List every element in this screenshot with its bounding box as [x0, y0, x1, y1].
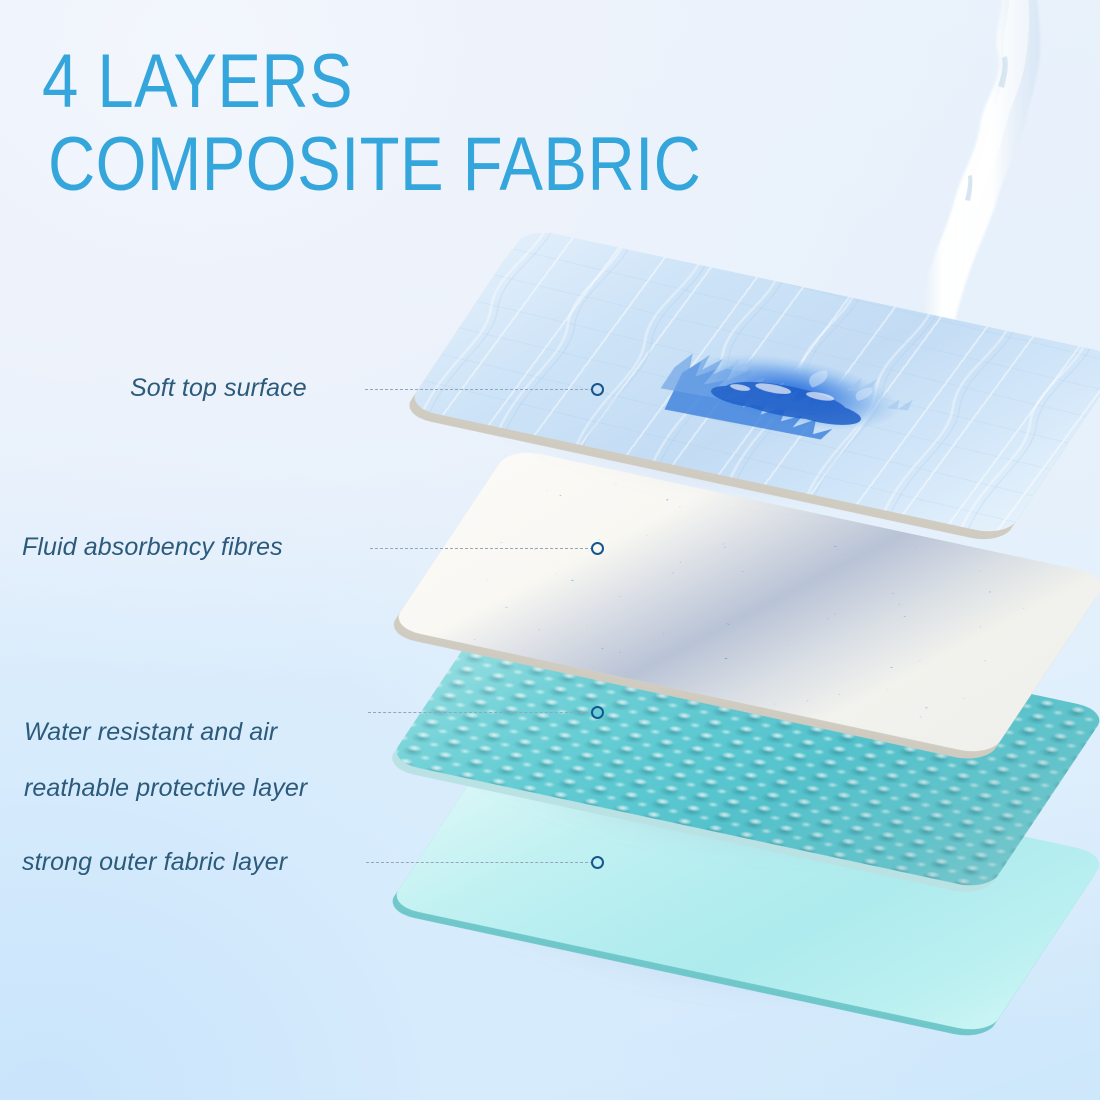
leader-line-layer-1: [365, 389, 593, 390]
title-line-2: COMPOSITE FABRIC: [48, 127, 731, 202]
callout-label-layer-3-line-1: Water resistant and air: [24, 718, 277, 746]
leader-line-layer-3: [368, 712, 593, 713]
callout-layer-2: Fluid absorbency fibres: [22, 533, 283, 561]
callout-marker-layer-4[interactable]: [591, 856, 604, 869]
callout-label-layer-4: strong outer fabric layer: [22, 848, 287, 876]
callout-layer-1: Soft top surface: [130, 374, 307, 402]
callout-label-layer-1: Soft top surface: [130, 374, 307, 402]
callout-label-layer-3-line-2: reathable protective layer: [24, 774, 307, 802]
product-infographic-poster: 4 LAYERS COMPOSITE FABRIC: [0, 0, 1100, 1100]
water-stream-icon: [880, 0, 1060, 340]
callout-marker-layer-3[interactable]: [591, 706, 604, 719]
leader-line-layer-4: [366, 862, 593, 863]
callout-layer-3: Water resistant and air reathable protec…: [24, 690, 307, 802]
leader-line-layer-2: [370, 548, 593, 549]
callout-label-layer-3: Water resistant and air reathable protec…: [24, 690, 307, 802]
page-title: 4 LAYERS COMPOSITE FABRIC: [42, 44, 842, 202]
title-line-1: 4 LAYERS: [42, 44, 730, 119]
callout-marker-layer-2[interactable]: [591, 542, 604, 555]
callout-label-layer-2: Fluid absorbency fibres: [22, 533, 283, 561]
callout-marker-layer-1[interactable]: [591, 383, 604, 396]
callout-layer-4: strong outer fabric layer: [22, 848, 287, 876]
